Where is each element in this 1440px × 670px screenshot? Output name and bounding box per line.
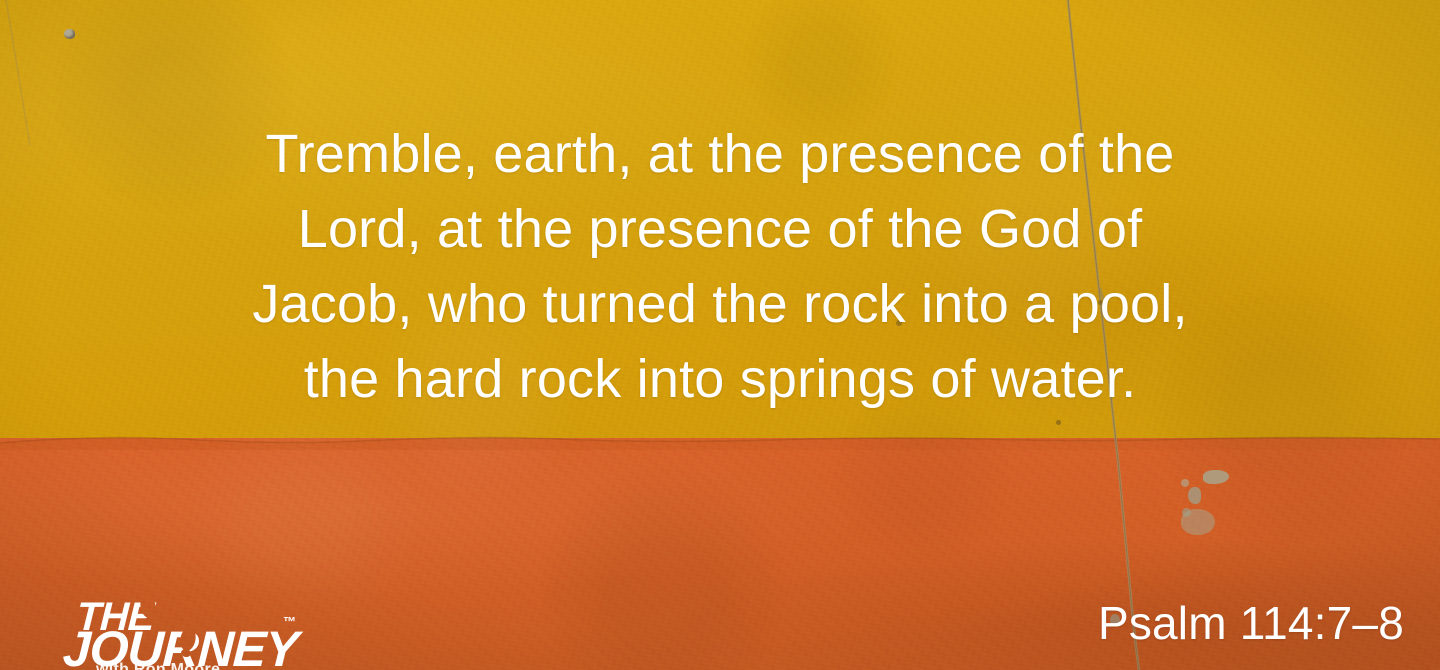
logo-subtitle: with Ron Moore — [96, 661, 220, 670]
verse-text: Tremble, earth, at the presence of the L… — [0, 117, 1440, 417]
verse-line-3: Jacob, who turned the rock into a pool, — [0, 267, 1440, 342]
the-journey-logo[interactable]: THE JOURNEY — [60, 592, 320, 670]
scripture-reference: Psalm 114:7–8 — [1098, 598, 1404, 648]
verse-line-4: the hard rock into springs of water. — [0, 342, 1440, 417]
verse-line-2: Lord, at the presence of the God of — [0, 192, 1440, 267]
paint-color-boundary — [0, 430, 1440, 450]
scripture-image-card: Tremble, earth, at the presence of the L… — [0, 0, 1440, 670]
verse-line-1: Tremble, earth, at the presence of the — [0, 117, 1440, 192]
trademark-symbol: ™ — [283, 614, 296, 629]
